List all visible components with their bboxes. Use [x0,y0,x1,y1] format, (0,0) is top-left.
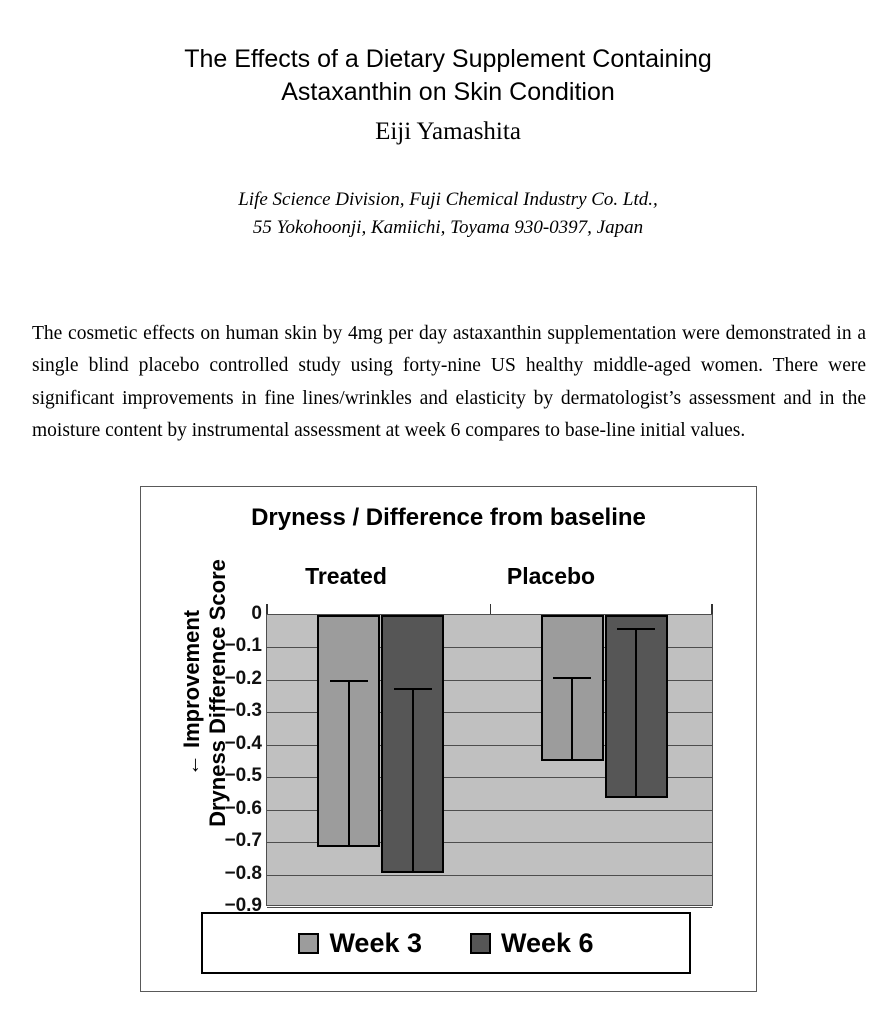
plot-area [266,614,713,906]
error-bar-stem [571,677,573,761]
x-axis-tick [266,604,268,614]
legend-label-week6: Week 6 [501,928,594,959]
affiliation-line-2: 55 Yokohoonji, Kamiichi, Toyama 930-0397… [0,214,896,242]
legend-label-week3: Week 3 [329,928,422,959]
affiliation: Life Science Division, Fuji Chemical Ind… [0,186,896,242]
y-axis-tick-label: −0.4 [196,733,262,755]
x-axis-tick [711,604,713,614]
error-bar-cap [394,688,432,690]
y-axis-tick-label: −0.5 [196,765,262,787]
error-bar-stem [412,688,414,873]
abstract-paragraph: The cosmetic effects on human skin by 4m… [32,318,866,448]
title-line-1: The Effects of a Dietary Supplement Cont… [0,43,896,76]
title-line-2: Astaxanthin on Skin Condition [0,76,896,109]
legend-entry-week3: Week 3 [298,928,422,959]
error-bar-cap [330,680,368,682]
gridline [267,907,712,908]
y-axis-tick-label: −0.7 [196,830,262,852]
figure-frame: Dryness / Difference from baseline Treat… [140,486,757,992]
error-bar-cap [617,628,655,630]
x-axis-tick [490,604,492,614]
plot-area-wrapper [266,614,713,906]
y-axis-tick-label: −0.8 [196,863,262,885]
affiliation-line-1: Life Science Division, Fuji Chemical Ind… [0,186,896,214]
y-axis-tick-label: 0 [196,603,262,625]
y-axis-tick-label: −0.3 [196,700,262,722]
y-axis-tick-labels: 0−0.1−0.2−0.3−0.4−0.5−0.6−0.7−0.8−0.9 [196,605,262,915]
group-label-treated: Treated [266,563,426,590]
y-axis-tick-label: −0.6 [196,798,262,820]
error-bar-stem [348,680,350,847]
error-bar-cap [553,677,591,679]
legend-swatch-icon-week6 [470,933,491,954]
group-label-placebo: Placebo [471,563,631,590]
chart-legend: Week 3 Week 6 [201,912,691,974]
error-bar-stem [635,628,637,798]
legend-entry-week6: Week 6 [470,928,594,959]
author-name: Eiji Yamashita [0,117,896,147]
y-axis-tick-label: −0.1 [196,635,262,657]
legend-swatch-icon-week3 [298,933,319,954]
y-axis-tick-label: −0.2 [196,668,262,690]
gridline [267,875,712,876]
page-title: The Effects of a Dietary Supplement Cont… [0,43,896,109]
chart-title: Dryness / Difference from baseline [141,504,756,532]
